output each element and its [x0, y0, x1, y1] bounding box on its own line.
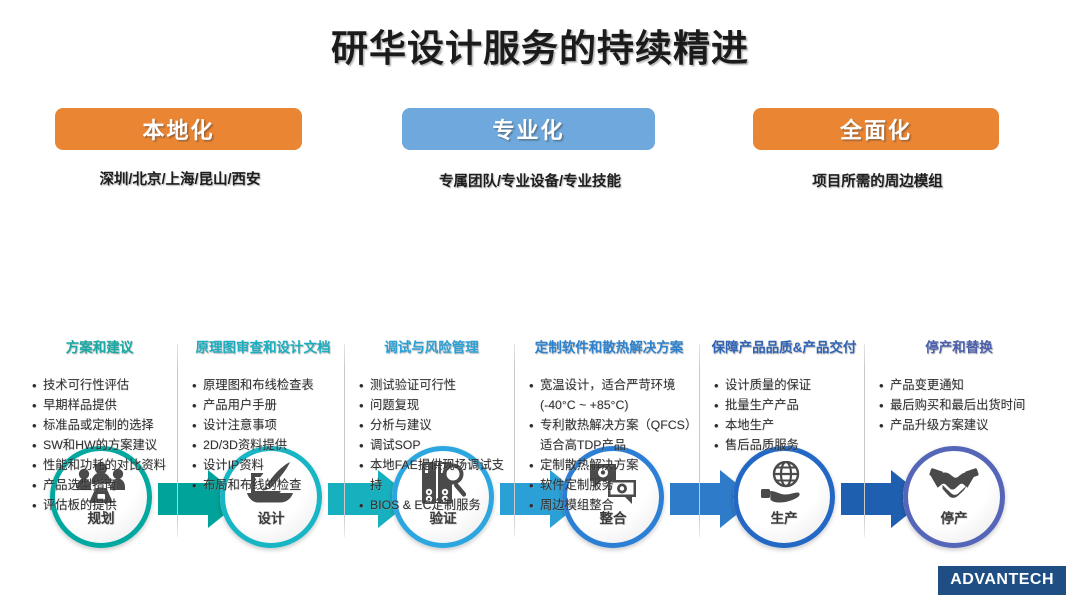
list-item: 产品用户手册: [192, 396, 344, 416]
detail-column-2: 原理图审查和设计文档原理图和布线检查表产品用户手册设计注意事项2D/3D资料提供…: [182, 340, 344, 538]
list-item: 标准品或定制的选择: [32, 416, 177, 436]
banner-comprehensiveness: 全面化: [753, 108, 999, 150]
column-item-list: 技术可行性评估早期样品提供标准品或定制的选择SW和HW的方案建议性能和功耗的对比…: [22, 376, 177, 515]
list-item: 批量生产产品: [714, 396, 864, 416]
list-item: 定制散热解决方案: [529, 456, 699, 476]
banner-professionalization-subtitle: 专属团队/专业设备/专业技能: [390, 170, 670, 191]
list-item: 产品选型指南: [32, 476, 177, 496]
list-item: 专利散热解决方案（QFCS）: [529, 416, 699, 436]
detail-column-5: 保障产品品质&产品交付设计质量的保证批量生产产品本地生产售后品质服务: [704, 340, 864, 538]
process-flow: 规划 设计 验证 整合: [0, 222, 1080, 334]
column-header: 保障产品品质&产品交付: [704, 340, 864, 356]
column-divider-3: [514, 344, 515, 537]
column-header: 定制软件和散热解决方案: [519, 340, 699, 356]
list-item: 早期样品提供: [32, 396, 177, 416]
detail-column-6: 停产和替换产品变更通知最后购买和最后出货时间产品升级方案建议: [869, 340, 1049, 538]
list-item: 设计质量的保证: [714, 376, 864, 396]
list-item: 本地生产: [714, 416, 864, 436]
banner-localization: 本地化: [55, 108, 302, 150]
column-header: 原理图审查和设计文档: [182, 340, 344, 356]
list-item: 周边模组整合: [529, 496, 699, 516]
list-item: 设计注意事项: [192, 416, 344, 436]
list-item: 设计IP资料: [192, 456, 344, 476]
list-item: 售后品质服务: [714, 436, 864, 456]
banner-localization-subtitle: 深圳/北京/上海/昆山/西安: [40, 168, 320, 189]
banner-label: 本地化: [142, 113, 214, 145]
list-item: (-40°C ~ +85°C): [529, 396, 699, 416]
list-item: 分析与建议: [359, 416, 514, 436]
detail-columns: 方案和建议技术可行性评估早期样品提供标准品或定制的选择SW和HW的方案建议性能和…: [0, 340, 1080, 540]
column-item-list: 设计质量的保证批量生产产品本地生产售后品质服务: [704, 376, 864, 456]
banner-label: 专业化: [492, 113, 564, 145]
column-item-list: 原理图和布线检查表产品用户手册设计注意事项2D/3D资料提供设计IP资料布局和布…: [182, 376, 344, 495]
list-item: 原理图和布线检查表: [192, 376, 344, 396]
banner-label: 全面化: [840, 113, 912, 145]
banner-comprehensiveness-subtitle: 项目所需的周边模组: [740, 170, 1015, 191]
list-item: BIOS & EC定制服务: [359, 496, 514, 516]
list-item: 测试验证可行性: [359, 376, 514, 396]
column-divider-2: [344, 344, 345, 537]
list-item: 问题复现: [359, 396, 514, 416]
banner-professionalization: 专业化: [402, 108, 655, 150]
list-item: 技术可行性评估: [32, 376, 177, 396]
list-item: 调试SOP: [359, 436, 514, 456]
column-header: 方案和建议: [22, 340, 177, 356]
list-item: 产品变更通知: [879, 376, 1049, 396]
list-item: 产品升级方案建议: [879, 416, 1049, 436]
list-item: SW和HW的方案建议: [32, 436, 177, 456]
detail-column-4: 定制软件和散热解决方案宽温设计，适合严苛环境(-40°C ~ +85°C)专利散…: [519, 340, 699, 538]
column-divider-1: [177, 344, 178, 537]
list-item: 评估板的提供: [32, 496, 177, 516]
detail-column-1: 方案和建议技术可行性评估早期样品提供标准品或定制的选择SW和HW的方案建议性能和…: [22, 340, 177, 538]
list-item: 宽温设计，适合严苛环境: [529, 376, 699, 396]
column-item-list: 宽温设计，适合严苛环境(-40°C ~ +85°C)专利散热解决方案（QFCS）…: [519, 376, 699, 515]
list-item: 布局和布线的检查: [192, 476, 344, 496]
list-item: 最后购买和最后出货时间: [879, 396, 1049, 416]
list-item: 性能和功耗的对比资料: [32, 456, 177, 476]
column-divider-5: [864, 344, 865, 537]
list-item: 2D/3D资料提供: [192, 436, 344, 456]
page-title: 研华设计服务的持续精进: [0, 18, 1080, 72]
advantech-logo: ADVANTECH: [938, 566, 1066, 595]
list-item: 适合高TDP产品: [529, 436, 699, 456]
column-divider-4: [699, 344, 700, 537]
list-item: 本地FAE提供现场调试支持: [359, 456, 514, 496]
column-header: 停产和替换: [869, 340, 1049, 356]
column-item-list: 产品变更通知最后购买和最后出货时间产品升级方案建议: [869, 376, 1049, 436]
slide-canvas: 研华设计服务的持续精进 本地化 深圳/北京/上海/昆山/西安 专业化 专属团队/…: [0, 0, 1080, 607]
column-item-list: 测试验证可行性问题复现分析与建议调试SOP本地FAE提供现场调试支持BIOS &…: [349, 376, 514, 515]
list-item: 软件定制服务: [529, 476, 699, 496]
detail-column-3: 调试与风险管理测试验证可行性问题复现分析与建议调试SOP本地FAE提供现场调试支…: [349, 340, 514, 538]
column-header: 调试与风险管理: [349, 340, 514, 356]
